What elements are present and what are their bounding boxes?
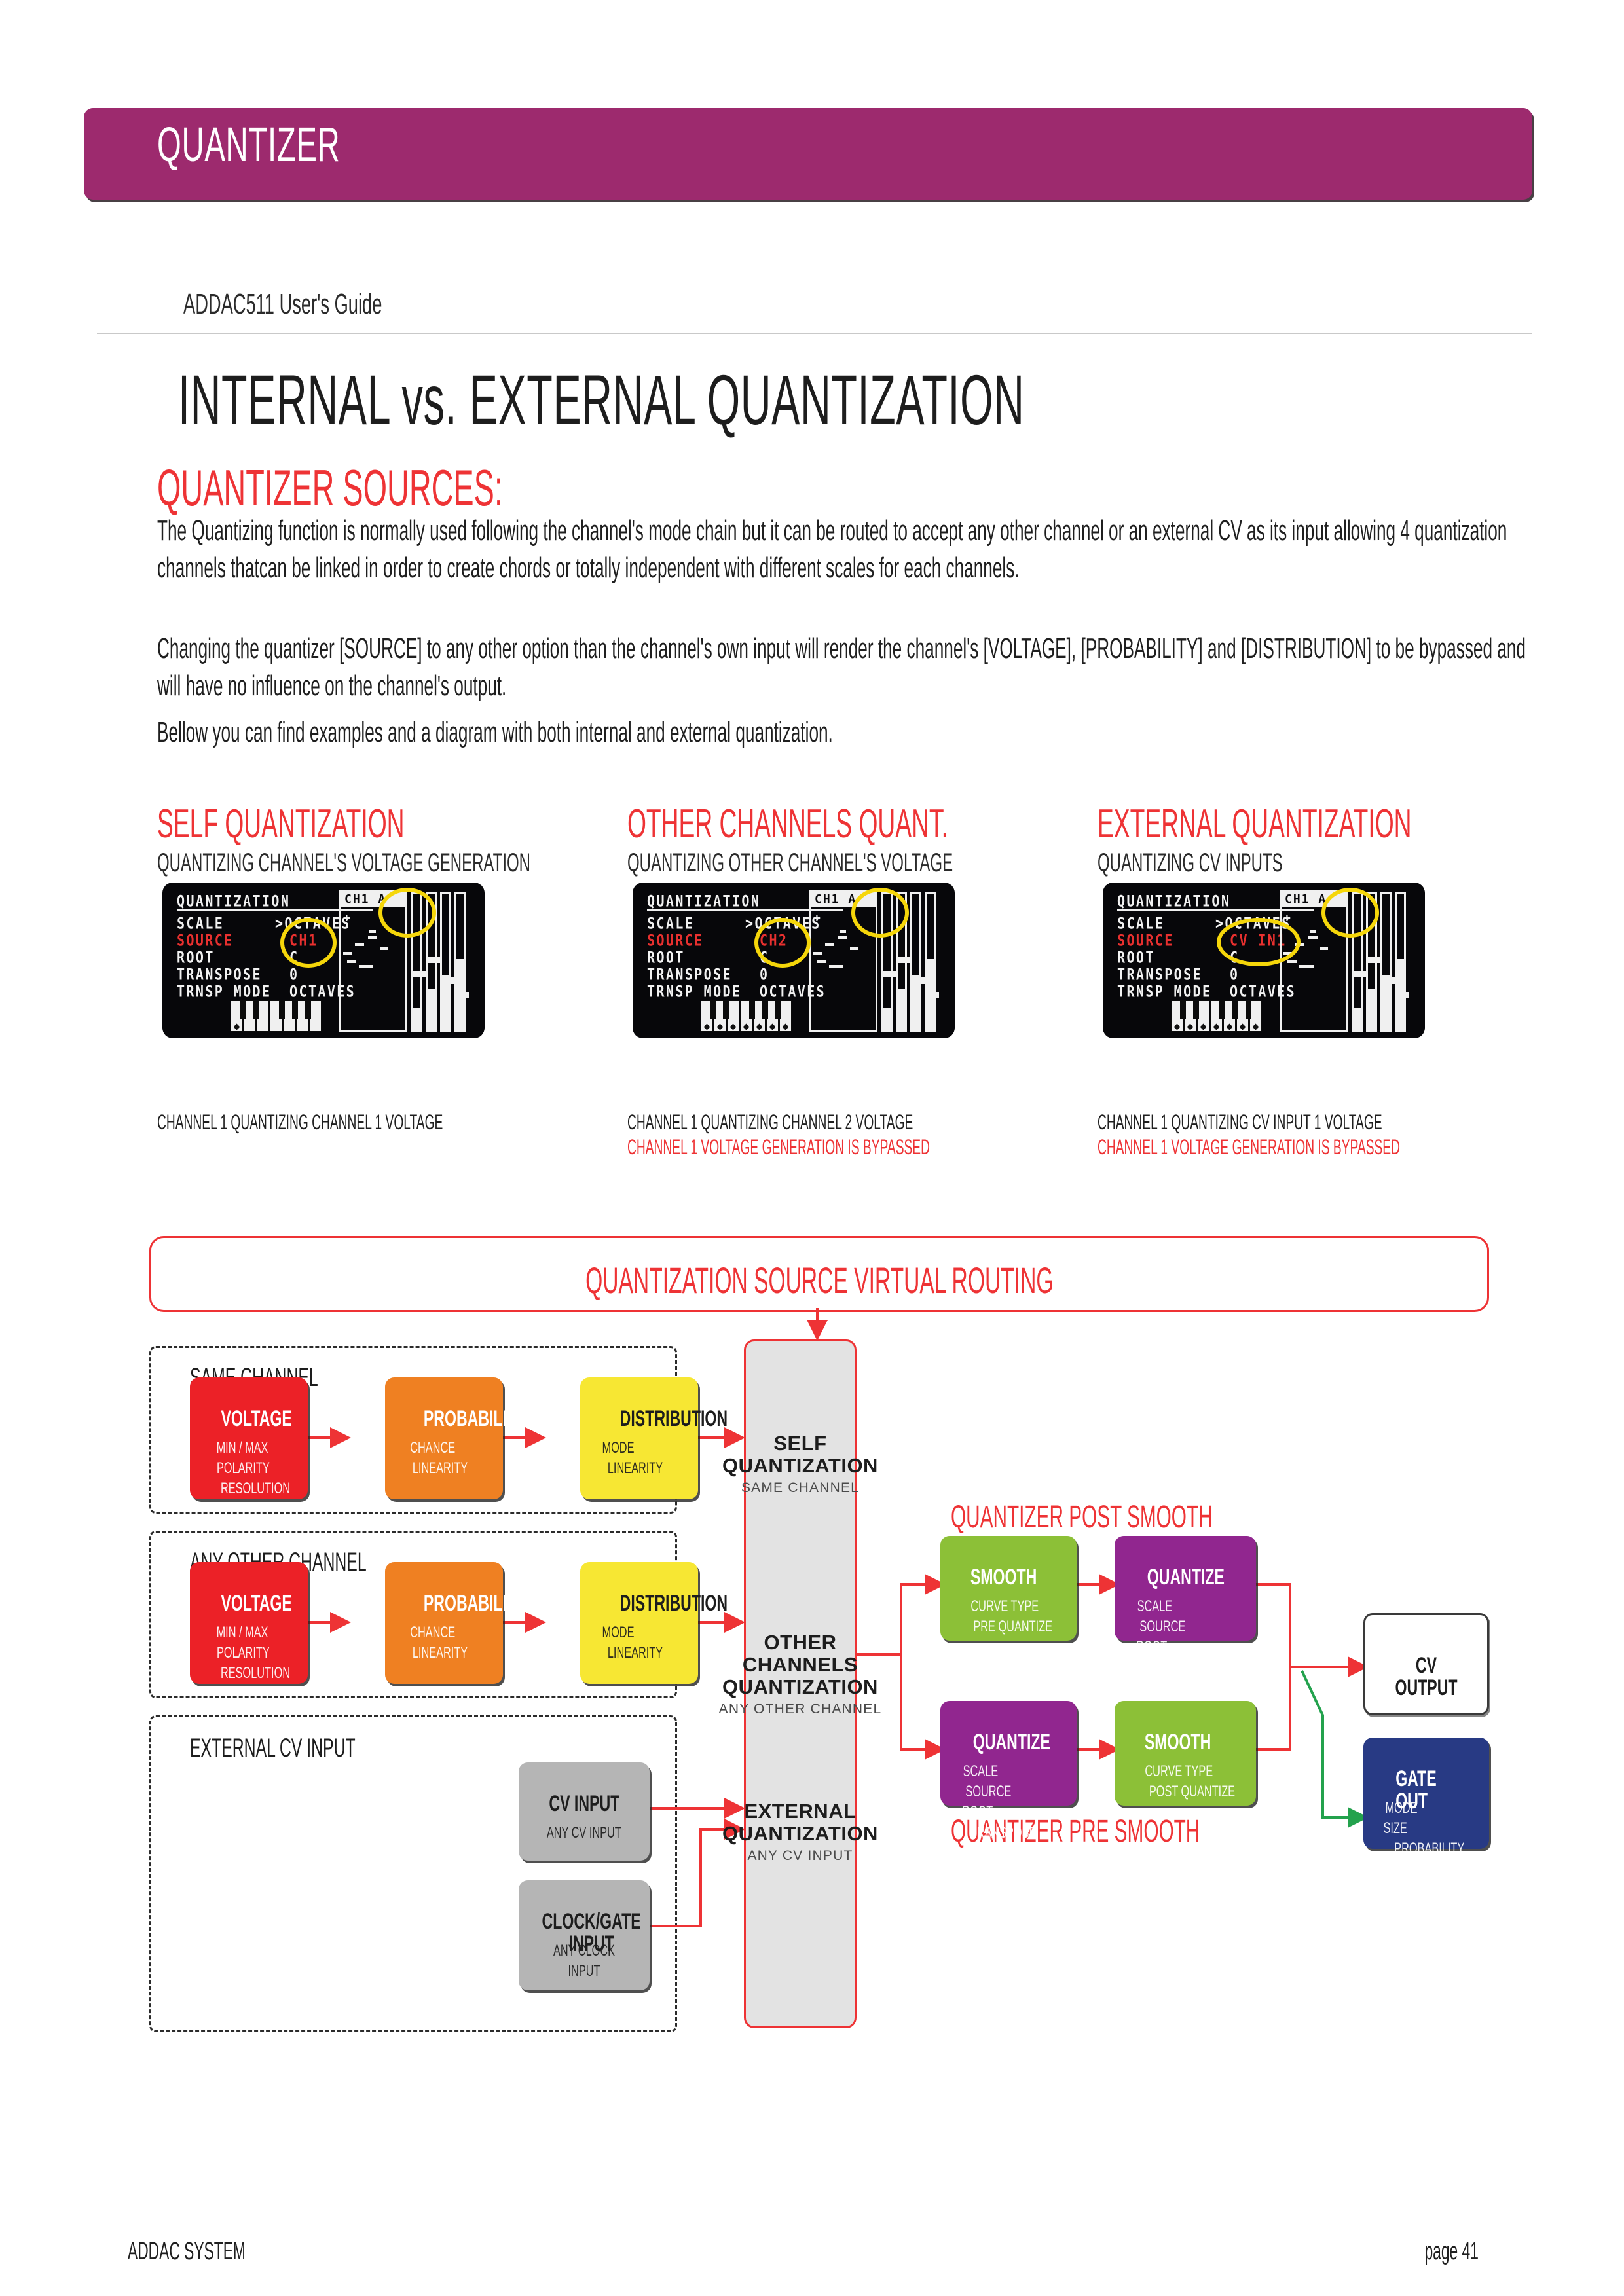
node-post-quantize[interactable]: QUANTIZESCALESOURCEROOTTRANSPOSE bbox=[1115, 1536, 1256, 1641]
node-title: CV INPUT bbox=[519, 1793, 650, 1815]
node-sublines: MIN / MAXPOLARITYRESOLUTION bbox=[190, 1438, 308, 1499]
node-sublines: ANY CLOCK INPUT bbox=[519, 1941, 650, 1981]
footer-page-number: page 41 bbox=[1407, 2238, 1496, 2266]
routing-diagram: QUANTIZATION SOURCE VIRTUAL ROUTING SAME… bbox=[0, 0, 1624, 2296]
node-title: PROBABILITY bbox=[385, 1592, 503, 1614]
node-sublines: CURVE TYPEPRE QUANTIZE bbox=[940, 1596, 1077, 1637]
node-gate-out[interactable]: GATE OUTMODESIZEPROBABILITY bbox=[1363, 1738, 1489, 1849]
node-post-smooth[interactable]: SMOOTHCURVE TYPEPRE QUANTIZE bbox=[940, 1536, 1077, 1641]
center-mode-1[interactable]: OTHERCHANNELSQUANTIZATIONANY OTHER CHANN… bbox=[678, 1631, 922, 1717]
routing-title: QUANTIZATION SOURCE VIRTUAL ROUTING bbox=[585, 1259, 1053, 1302]
node-sublines: MIN / MAXPOLARITYRESOLUTION bbox=[190, 1622, 308, 1684]
node-sublines: SCALESOURCEROOTTRANSPOSE bbox=[1115, 1596, 1256, 1678]
center-mode-2[interactable]: EXTERNALQUANTIZATIONANY CV INPUT bbox=[678, 1800, 922, 1864]
node-same-voltage[interactable]: VOLTAGEMIN / MAXPOLARITYRESOLUTION bbox=[190, 1377, 308, 1499]
center-mode-title: OTHERCHANNELSQUANTIZATION bbox=[678, 1631, 922, 1698]
node-title: VOLTAGE bbox=[190, 1408, 308, 1430]
center-mode-sub: SAME CHANNEL bbox=[678, 1480, 922, 1496]
node-title: QUANTIZE bbox=[940, 1731, 1077, 1753]
node-sublines: MODESIZEPROBABILITY bbox=[1363, 1798, 1489, 1859]
node-title: CV OUTPUT bbox=[1365, 1654, 1487, 1699]
post-smooth-label: QUANTIZER POST SMOOTH bbox=[951, 1499, 1213, 1535]
node-clock-gate-input[interactable]: CLOCK/GATE INPUTANY CLOCK INPUT bbox=[519, 1880, 650, 1990]
node-pre-quantize[interactable]: QUANTIZESCALESOURCEROOTTRANSPOSE bbox=[940, 1701, 1077, 1806]
node-cv-input[interactable]: CV INPUTANY CV INPUT bbox=[519, 1762, 650, 1861]
center-mode-0[interactable]: SELFQUANTIZATIONSAME CHANNEL bbox=[678, 1432, 922, 1496]
center-mode-title: EXTERNALQUANTIZATION bbox=[678, 1800, 922, 1845]
node-title: VOLTAGE bbox=[190, 1592, 308, 1614]
center-mode-sub: ANY CV INPUT bbox=[678, 1848, 922, 1864]
node-other-voltage[interactable]: VOLTAGEMIN / MAXPOLARITYRESOLUTION bbox=[190, 1562, 308, 1684]
node-cv-output[interactable]: CV OUTPUT bbox=[1363, 1613, 1489, 1715]
node-pre-smooth[interactable]: SMOOTHCURVE TYPEPOST QUANTIZE bbox=[1115, 1701, 1256, 1806]
node-title: DISTRIBUTION bbox=[580, 1408, 698, 1430]
node-sublines: CHANCELINEARITY bbox=[385, 1622, 503, 1663]
center-mode-sub: ANY OTHER CHANNEL bbox=[678, 1702, 922, 1717]
node-sublines: ANY CV INPUT bbox=[519, 1823, 650, 1843]
node-sublines: CHANCELINEARITY bbox=[385, 1438, 503, 1478]
node-title: QUANTIZE bbox=[1115, 1566, 1256, 1588]
routing-title-box: QUANTIZATION SOURCE VIRTUAL ROUTING bbox=[149, 1236, 1489, 1312]
node-title: PROBABILITY bbox=[385, 1408, 503, 1430]
page: QUANTIZER ADDAC511 User's Guide INTERNAL… bbox=[0, 0, 1624, 2296]
center-mode-title: SELFQUANTIZATION bbox=[678, 1432, 922, 1477]
node-title: DISTRIBUTION bbox=[580, 1592, 698, 1614]
node-sublines: SCALESOURCEROOTTRANSPOSE bbox=[940, 1761, 1077, 1843]
footer-brand: ADDAC SYSTEM bbox=[128, 2238, 246, 2266]
node-title: SMOOTH bbox=[1115, 1731, 1256, 1753]
group-label: EXTERNAL CV INPUT bbox=[190, 1734, 356, 1763]
node-title: SMOOTH bbox=[940, 1566, 1077, 1588]
node-same-probability[interactable]: PROBABILITYCHANCELINEARITY bbox=[385, 1377, 503, 1499]
node-other-probability[interactable]: PROBABILITYCHANCELINEARITY bbox=[385, 1562, 503, 1684]
node-sublines: CURVE TYPEPOST QUANTIZE bbox=[1115, 1761, 1256, 1802]
